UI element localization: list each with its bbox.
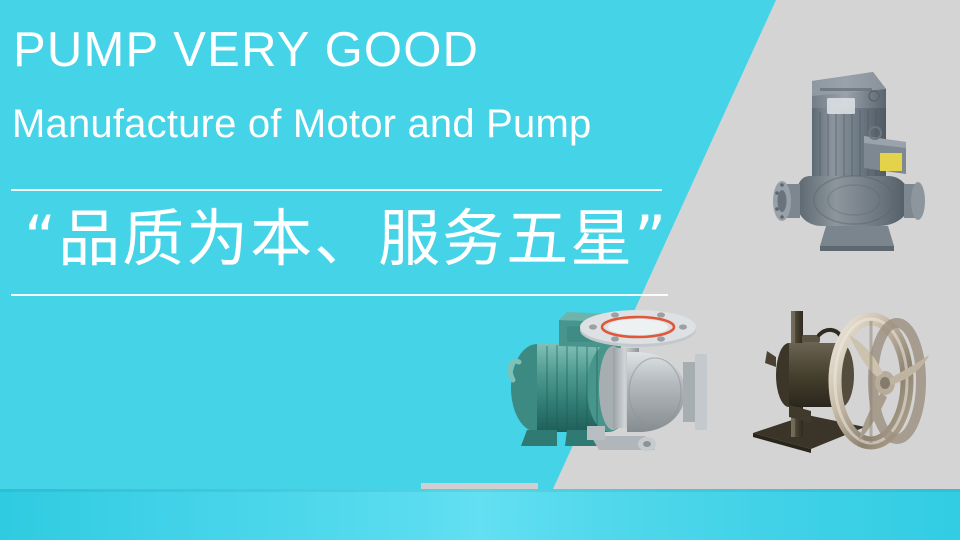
bottom-color-band <box>0 489 960 540</box>
vertical-inline-pump-illustration <box>770 48 950 253</box>
divider-top <box>11 189 662 191</box>
product-image-vertical-inline-pump <box>770 48 950 253</box>
divider-bottom <box>11 294 668 296</box>
product-image-submersible-mixer <box>745 293 940 468</box>
product-image-horizontal-motor-pump <box>495 300 730 460</box>
banner-headline: PUMP VERY GOOD <box>13 26 479 75</box>
horizontal-motor-pump-illustration <box>495 300 730 460</box>
banner-slogan: “品质为本、服务五星” <box>24 202 668 276</box>
promo-banner: PUMP VERY GOOD Manufacture of Motor and … <box>0 0 960 540</box>
submersible-mixer-illustration <box>745 293 940 468</box>
banner-subheadline: Manufacture of Motor and Pump <box>12 104 591 144</box>
